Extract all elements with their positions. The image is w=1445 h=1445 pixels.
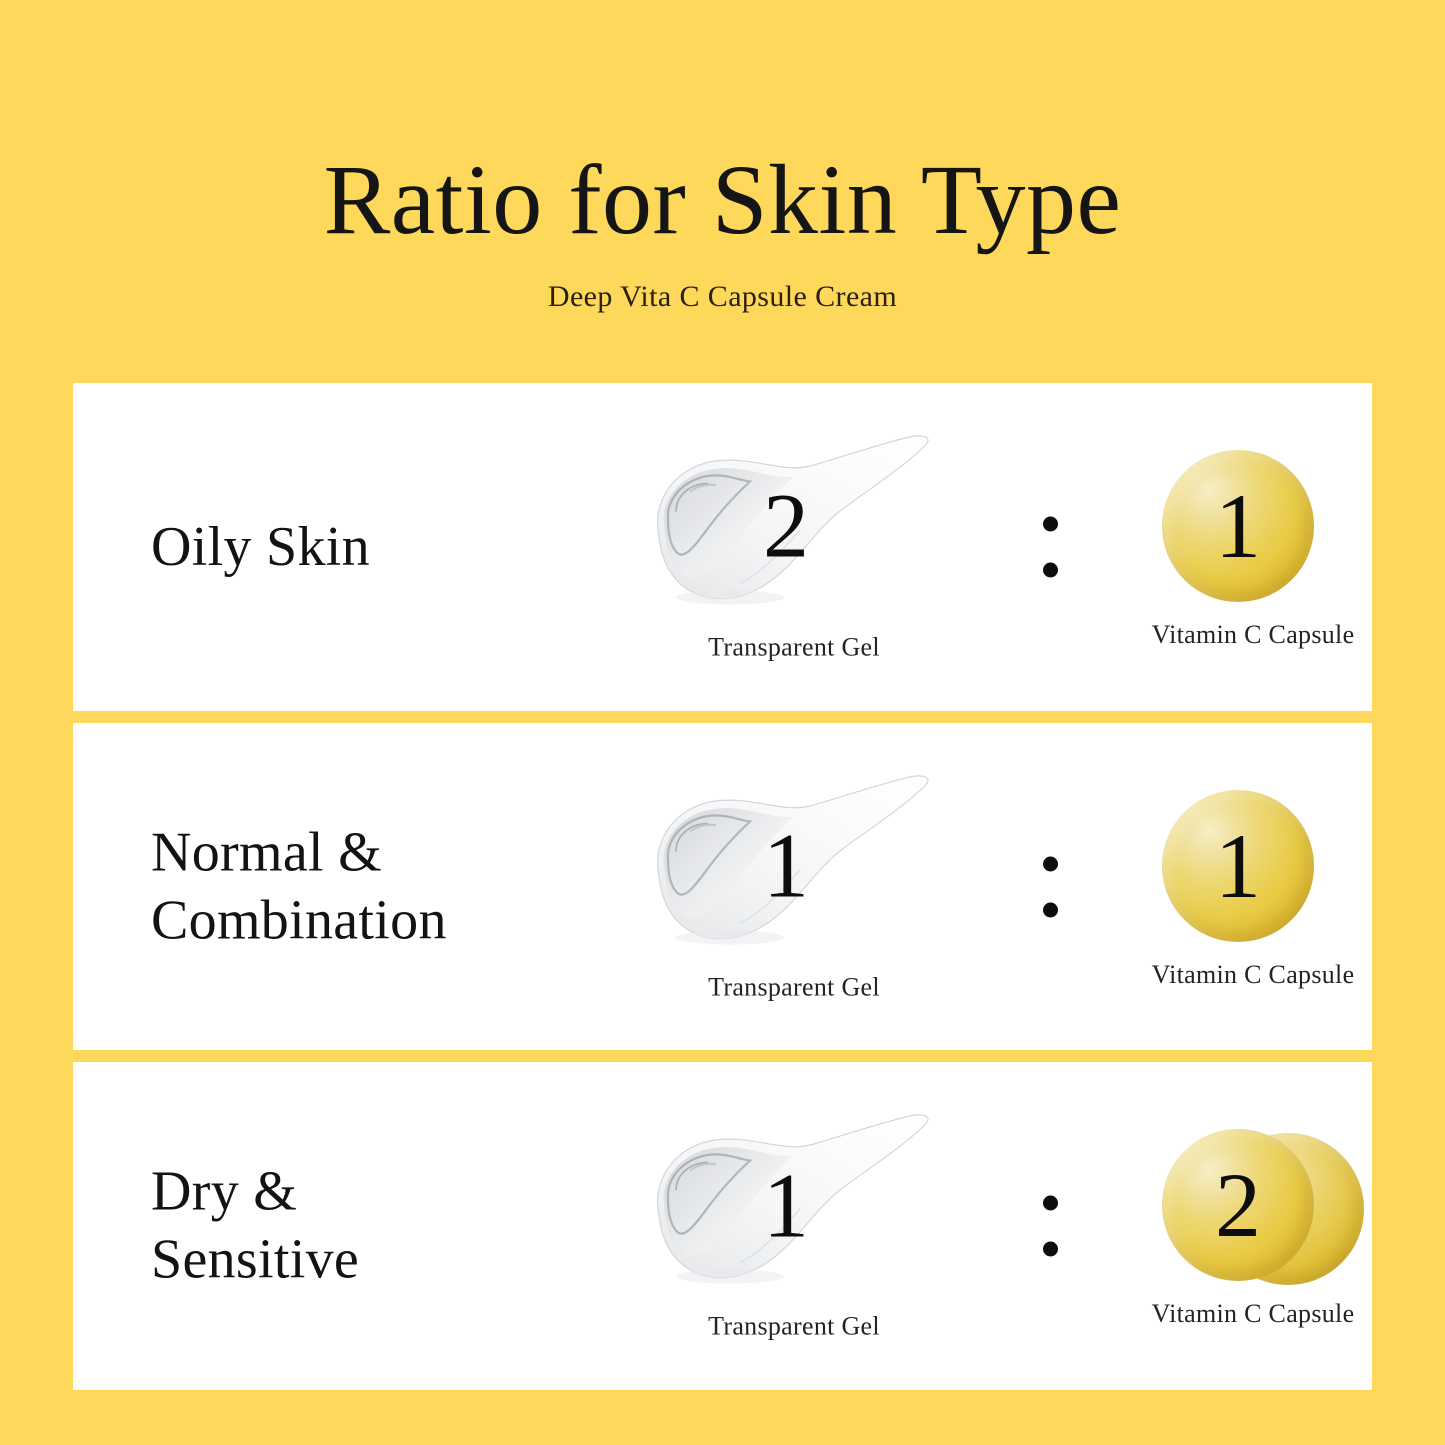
- capsule-amount: 2: [1162, 1129, 1314, 1281]
- colon-dot-bottom: [1043, 1242, 1058, 1257]
- gel-caption: Transparent Gel: [708, 974, 880, 1000]
- ratio-separator: [1043, 856, 1058, 917]
- vitamin-c-capsule-group: 1 Vitamin C Capsule: [1103, 786, 1403, 988]
- gel-amount: 2: [629, 433, 929, 618]
- colon-dot-bottom: [1043, 902, 1058, 917]
- capsule-caption: Vitamin C Capsule: [1152, 622, 1355, 648]
- skin-type-label: Normal & Combination: [151, 818, 447, 955]
- page-subtitle: Deep Vita C Capsule Cream: [548, 250, 897, 312]
- capsule-amount: 1: [1162, 790, 1314, 942]
- vitamin-c-capsule-group: 2 Vitamin C Capsule: [1103, 1125, 1403, 1327]
- transparent-gel-group: 1 Transparent Gel: [629, 773, 959, 1000]
- colon-dot-bottom: [1043, 562, 1058, 577]
- capsule-caption: Vitamin C Capsule: [1152, 1301, 1355, 1327]
- skin-type-label: Dry & Sensitive: [151, 1158, 359, 1295]
- colon-dot-top: [1043, 1196, 1058, 1211]
- gel-amount: 1: [629, 1113, 929, 1298]
- transparent-gel-group: 1 Transparent Gel: [629, 1113, 959, 1340]
- ratio-card-oily-skin: Oily Skin: [73, 383, 1372, 711]
- vitamin-c-capsule-group: 1 Vitamin C Capsule: [1103, 446, 1403, 648]
- ratio-separator: [1043, 1196, 1058, 1257]
- ratio-card-dry-sensitive: Dry & Sensitive: [73, 1062, 1372, 1390]
- skin-type-label: Oily Skin: [151, 513, 370, 581]
- capsule-icon: 1: [1138, 446, 1368, 608]
- capsule-caption: Vitamin C Capsule: [1152, 962, 1355, 988]
- ratio-card-list: Oily Skin: [73, 383, 1372, 1390]
- gel-caption: Transparent Gel: [708, 1314, 880, 1340]
- transparent-gel-group: 2 Transparent Gel: [629, 433, 959, 660]
- capsule-amount: 1: [1162, 450, 1314, 602]
- colon-dot-top: [1043, 516, 1058, 531]
- gel-amount: 1: [629, 773, 929, 958]
- gel-caption: Transparent Gel: [708, 634, 880, 660]
- capsule-icon: 2: [1138, 1125, 1368, 1287]
- colon-dot-top: [1043, 856, 1058, 871]
- ratio-card-normal-combination: Normal & Combination: [73, 723, 1372, 1051]
- page-title: Ratio for Skin Type: [324, 0, 1122, 250]
- page-header: Ratio for Skin Type Deep Vita C Capsule …: [0, 0, 1445, 383]
- ratio-separator: [1043, 516, 1058, 577]
- capsule-icon: 1: [1138, 786, 1368, 948]
